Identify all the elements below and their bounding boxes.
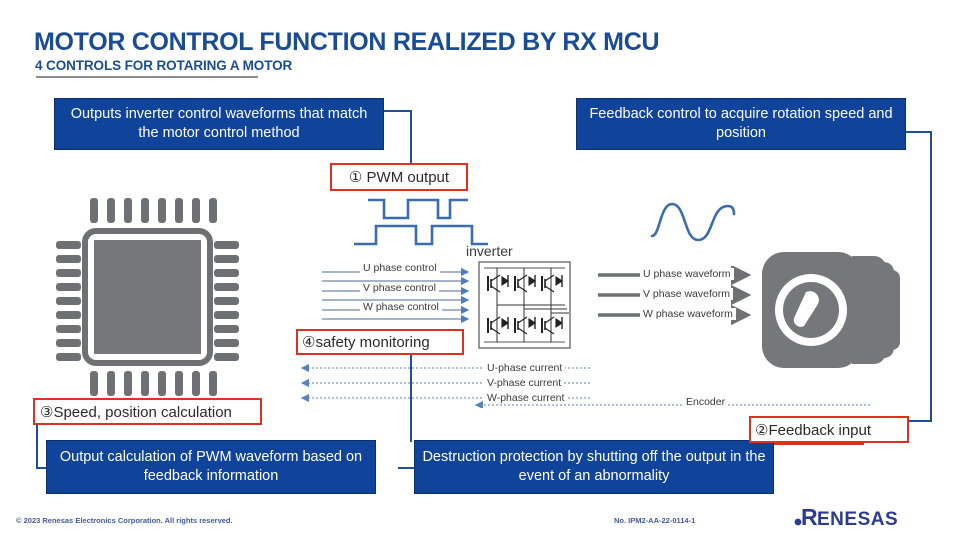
signal-label-v-phase-control: V phase control (360, 282, 439, 294)
signal-label-u-phase-control: U phase control (360, 262, 440, 274)
svg-text:R: R (801, 504, 818, 529)
lead-outputs-h (384, 110, 412, 112)
mcu-chip (60, 198, 235, 396)
callout-destruction-protection: Destruction protection by shutting off t… (414, 440, 774, 494)
lead-destruct-red-h (772, 443, 864, 445)
label-speed-position-calculation: ③Speed, position calculation (33, 398, 262, 425)
lead-speed-v (36, 423, 38, 469)
signal-label-u-phase-waveform: U phase waveform (640, 268, 734, 280)
encoder-feedback-arrow (474, 394, 872, 408)
callout-feedback-control: Feedback control to acquire rotation spe… (576, 98, 906, 150)
renesas-logo: ⁡ R ENESAS (792, 503, 940, 529)
inverter-bridge (478, 261, 571, 349)
lead-outputs-v (410, 110, 412, 166)
page-title: MOTOR CONTROL FUNCTION REALIZED BY RX MC… (34, 28, 659, 57)
signal-label-v-phase-waveform: V phase waveform (640, 288, 733, 300)
inverter-label: inverter (466, 243, 513, 259)
lead-feedback-h2 (906, 420, 932, 422)
callout-output-calculation: Output calculation of PWM waveform based… (46, 440, 376, 494)
lead-feedback-v (930, 131, 932, 421)
lead-feedback-h (904, 131, 932, 133)
svg-text:ENESAS: ENESAS (817, 509, 898, 529)
sine-waveform-icon (648, 196, 738, 248)
title-underline (36, 76, 258, 78)
signal-label-w-phase-waveform: W phase waveform (640, 308, 736, 320)
signal-label-encoder: Encoder (683, 396, 728, 408)
signal-label-v-phase-current: V-phase current (484, 377, 564, 389)
label-feedback-input: ②Feedback input (749, 416, 909, 443)
label-pwm-output: ① PWM output (330, 163, 468, 191)
slide-canvas: MOTOR CONTROL FUNCTION REALIZED BY RX MC… (0, 0, 960, 540)
callout-outputs-inverter-waveforms: Outputs inverter control waveforms that … (54, 98, 384, 150)
motor-graphic (756, 248, 906, 372)
pwm-waveform-icon (338, 196, 498, 248)
footer-copyright: © 2023 Renesas Electronics Corporation. … (16, 516, 233, 525)
signal-label-u-phase-current: U-phase current (484, 362, 565, 374)
mcu-die (94, 240, 201, 354)
control-signal-arrows (322, 266, 482, 328)
footer-document-number: No. IPM2-AA-22-0114-1 (614, 516, 695, 525)
signal-label-w-phase-control: W phase control (360, 301, 442, 313)
page-subtitle: 4 CONTROLS FOR ROTARING A MOTOR (35, 58, 292, 73)
label-safety-monitoring: ④safety monitoring (296, 329, 464, 355)
